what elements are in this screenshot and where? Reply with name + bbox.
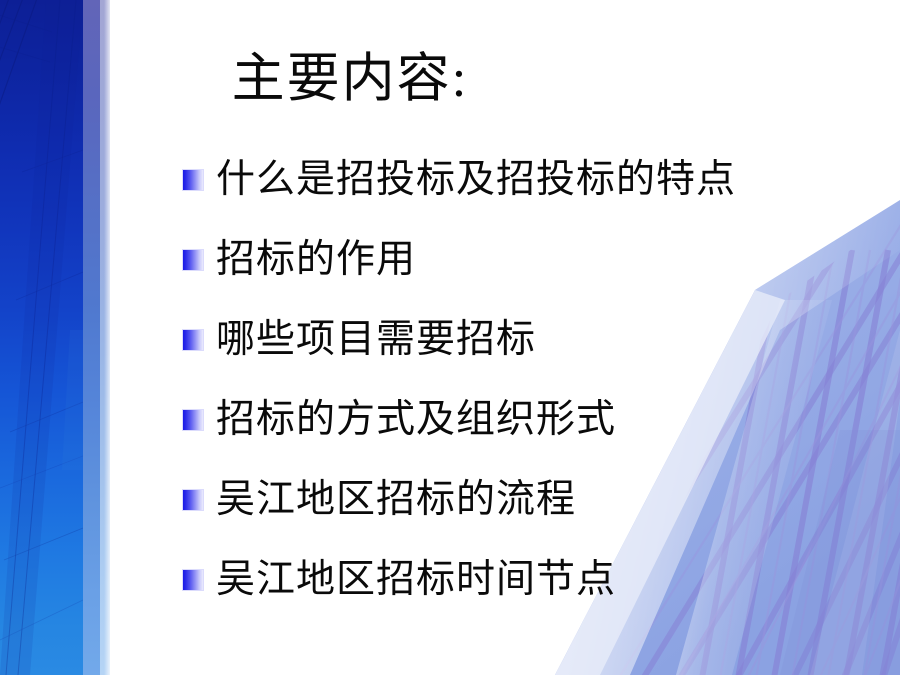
list-item[interactable]: 什么是招投标及招投标的特点 bbox=[183, 140, 873, 220]
list-item-label: 招标的作用 bbox=[216, 239, 416, 281]
list-item[interactable]: 吴江地区招标时间节点 bbox=[183, 540, 873, 620]
content-bullet-list: 什么是招投标及招投标的特点 招标的作用 哪些项目需要招标 招标的方式及组织形式 … bbox=[183, 140, 873, 620]
list-item-label: 吴江地区招标的流程 bbox=[216, 479, 576, 521]
slide-title: 主要内容: bbox=[110, 52, 590, 108]
list-item-label: 哪些项目需要招标 bbox=[216, 319, 536, 361]
gradient-square-bullet-icon bbox=[183, 490, 203, 510]
list-item[interactable]: 哪些项目需要招标 bbox=[183, 300, 873, 380]
sidebar-building-lines-icon bbox=[0, 0, 83, 675]
blue-architectural-sidebar bbox=[0, 0, 110, 675]
list-item-label: 招标的方式及组织形式 bbox=[216, 399, 616, 441]
list-item-label: 吴江地区招标时间节点 bbox=[216, 559, 616, 601]
list-item-label: 什么是招投标及招投标的特点 bbox=[216, 159, 736, 201]
gradient-square-bullet-icon bbox=[183, 250, 203, 270]
list-item[interactable]: 吴江地区招标的流程 bbox=[183, 460, 873, 540]
list-item[interactable]: 招标的作用 bbox=[183, 220, 873, 300]
gradient-square-bullet-icon bbox=[183, 170, 203, 190]
slide-canvas: 主要内容: 什么是招投标及招投标的特点 招标的作用 哪些项目需要招标 招标的方式… bbox=[0, 0, 900, 675]
gradient-square-bullet-icon bbox=[183, 410, 203, 430]
gradient-square-bullet-icon bbox=[183, 570, 203, 590]
sidebar-accent-band bbox=[83, 0, 100, 675]
list-item[interactable]: 招标的方式及组织形式 bbox=[183, 380, 873, 460]
gradient-square-bullet-icon bbox=[183, 330, 203, 350]
